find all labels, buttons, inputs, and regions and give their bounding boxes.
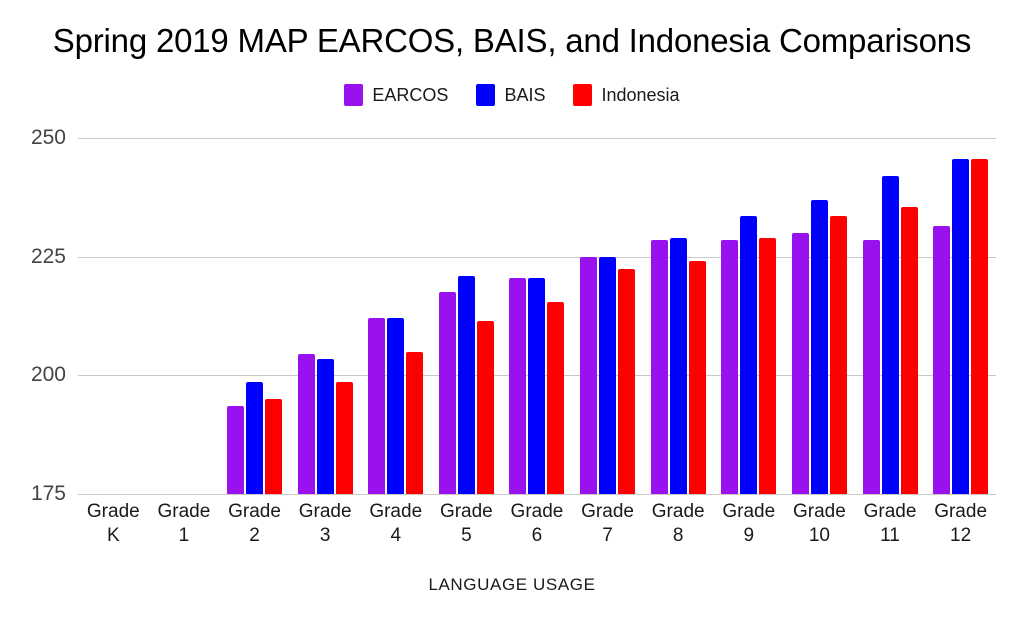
bar-group xyxy=(431,138,502,494)
x-axis-tick-label: Grade11 xyxy=(855,500,926,548)
bar-bais[interactable] xyxy=(811,200,828,494)
x-axis-tick-label: GradeK xyxy=(78,500,149,548)
x-axis-tick-label-line1: Grade xyxy=(934,501,987,522)
x-axis-tick-label: Grade5 xyxy=(431,500,502,548)
legend-swatch-icon xyxy=(573,84,592,106)
x-axis-tick-label-line2: 10 xyxy=(784,524,855,548)
x-axis-tick-label-line2: 5 xyxy=(431,524,502,548)
bar-earcos[interactable] xyxy=(933,226,950,494)
x-axis-tick-label-line1: Grade xyxy=(652,501,705,522)
bar-bais[interactable] xyxy=(882,176,899,494)
gridline xyxy=(78,494,996,495)
x-axis-tick-label-line1: Grade xyxy=(440,501,493,522)
bar-earcos[interactable] xyxy=(227,406,244,494)
x-axis-tick-label-line2: 9 xyxy=(713,524,784,548)
x-axis-tick-label: Grade8 xyxy=(643,500,714,548)
legend-label: Indonesia xyxy=(601,85,679,106)
bar-earcos[interactable] xyxy=(651,240,668,494)
x-axis-tick-label: Grade4 xyxy=(360,500,431,548)
bar-bais[interactable] xyxy=(952,159,969,494)
legend-swatch-icon xyxy=(344,84,363,106)
bar-indonesia[interactable] xyxy=(971,159,988,494)
bar-indonesia[interactable] xyxy=(336,382,353,494)
bar-bais[interactable] xyxy=(528,278,545,494)
x-axis-tick-label-line1: Grade xyxy=(369,501,422,522)
x-axis-tick-label-line1: Grade xyxy=(722,501,775,522)
legend-item-indonesia[interactable]: Indonesia xyxy=(573,84,679,106)
x-axis-tick-label-line2: 7 xyxy=(572,524,643,548)
bar-group xyxy=(149,138,220,494)
bar-earcos[interactable] xyxy=(721,240,738,494)
x-axis-tick-label: Grade3 xyxy=(290,500,361,548)
x-axis-tick-label: Grade1 xyxy=(149,500,220,548)
bar-indonesia[interactable] xyxy=(830,216,847,494)
y-axis-tick-label: 175 xyxy=(31,482,66,506)
x-axis-tick-label-line2: 1 xyxy=(149,524,220,548)
x-axis-tick-label-line1: Grade xyxy=(864,501,917,522)
bar-indonesia[interactable] xyxy=(265,399,282,494)
x-axis: GradeKGrade1Grade2Grade3Grade4Grade5Grad… xyxy=(78,500,996,548)
x-axis-tick-label-line1: Grade xyxy=(228,501,281,522)
bar-indonesia[interactable] xyxy=(689,261,706,494)
x-axis-tick-label: Grade7 xyxy=(572,500,643,548)
bar-earcos[interactable] xyxy=(368,318,385,494)
x-axis-tick-label-line1: Grade xyxy=(299,501,352,522)
bar-earcos[interactable] xyxy=(863,240,880,494)
x-axis-tick-label-line1: Grade xyxy=(158,501,211,522)
x-axis-tick-label-line1: Grade xyxy=(87,501,140,522)
bar-group xyxy=(713,138,784,494)
x-axis-tick-label-line2: 3 xyxy=(290,524,361,548)
legend-label: BAIS xyxy=(504,85,545,106)
chart-title: Spring 2019 MAP EARCOS, BAIS, and Indone… xyxy=(0,22,1024,60)
bar-earcos[interactable] xyxy=(580,257,597,494)
bar-bais[interactable] xyxy=(670,238,687,494)
x-axis-tick-label-line2: 12 xyxy=(925,524,996,548)
bar-group xyxy=(784,138,855,494)
legend-item-bais[interactable]: BAIS xyxy=(476,84,545,106)
bar-group xyxy=(572,138,643,494)
legend-label: EARCOS xyxy=(372,85,448,106)
chart-legend: EARCOSBAISIndonesia xyxy=(0,84,1024,106)
x-axis-tick-label: Grade6 xyxy=(502,500,573,548)
x-axis-tick-label-line2: 6 xyxy=(502,524,573,548)
bar-bais[interactable] xyxy=(740,216,757,494)
bar-earcos[interactable] xyxy=(439,292,456,494)
x-axis-tick-label-line2: 8 xyxy=(643,524,714,548)
bar-indonesia[interactable] xyxy=(618,269,635,494)
x-axis-title: LANGUAGE USAGE xyxy=(0,575,1024,595)
bar-earcos[interactable] xyxy=(509,278,526,494)
x-axis-tick-label-line1: Grade xyxy=(511,501,564,522)
bar-indonesia[interactable] xyxy=(901,207,918,494)
x-axis-tick-label-line2: 4 xyxy=(360,524,431,548)
bar-group xyxy=(290,138,361,494)
bar-group xyxy=(360,138,431,494)
bar-group xyxy=(855,138,926,494)
bar-group xyxy=(78,138,149,494)
legend-item-earcos[interactable]: EARCOS xyxy=(344,84,448,106)
bar-bais[interactable] xyxy=(458,276,475,494)
x-axis-tick-label: Grade10 xyxy=(784,500,855,548)
y-axis-tick-label: 200 xyxy=(31,363,66,387)
x-axis-tick-label: Grade12 xyxy=(925,500,996,548)
x-axis-tick-label: Grade9 xyxy=(713,500,784,548)
x-axis-tick-label-line2: K xyxy=(78,524,149,548)
chart-container: Spring 2019 MAP EARCOS, BAIS, and Indone… xyxy=(0,0,1024,633)
x-axis-tick-label: Grade2 xyxy=(219,500,290,548)
legend-swatch-icon xyxy=(476,84,495,106)
bar-earcos[interactable] xyxy=(298,354,315,494)
y-axis: 175200225250 xyxy=(0,138,66,494)
bar-indonesia[interactable] xyxy=(759,238,776,494)
bar-indonesia[interactable] xyxy=(547,302,564,494)
bar-group xyxy=(219,138,290,494)
bar-indonesia[interactable] xyxy=(477,321,494,494)
bar-group xyxy=(643,138,714,494)
y-axis-tick-label: 225 xyxy=(31,245,66,269)
bar-earcos[interactable] xyxy=(792,233,809,494)
x-axis-tick-label-line2: 11 xyxy=(855,524,926,548)
bar-bais[interactable] xyxy=(387,318,404,494)
y-axis-tick-label: 250 xyxy=(31,126,66,150)
bar-indonesia[interactable] xyxy=(406,352,423,494)
x-axis-tick-label-line2: 2 xyxy=(219,524,290,548)
x-axis-tick-label-line1: Grade xyxy=(581,501,634,522)
bar-group xyxy=(925,138,996,494)
bar-bais[interactable] xyxy=(317,359,334,494)
x-axis-tick-label-line1: Grade xyxy=(793,501,846,522)
bar-bais[interactable] xyxy=(599,257,616,494)
bar-group xyxy=(502,138,573,494)
bar-bais[interactable] xyxy=(246,382,263,494)
bar-groups xyxy=(78,138,996,494)
